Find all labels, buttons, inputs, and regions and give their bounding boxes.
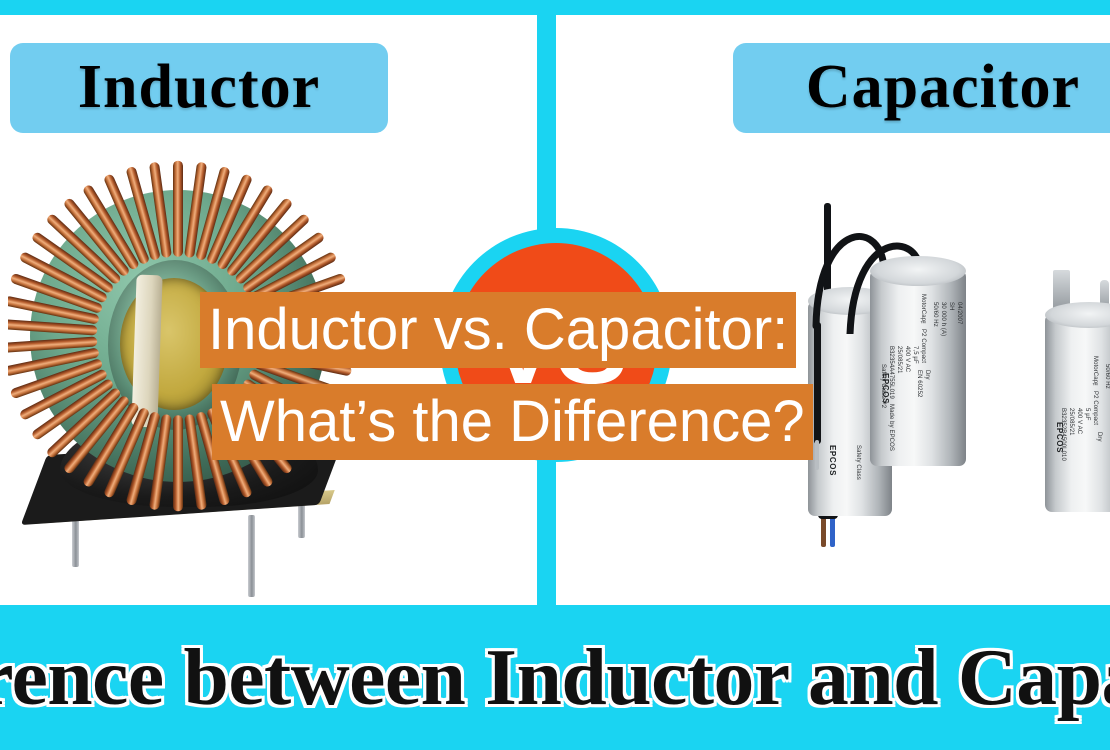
capacitor-capacitance-text: 7,5 µF	[911, 346, 918, 364]
capacitor-made-text: Made by EPCOS	[887, 404, 894, 451]
lead-wire-black	[814, 322, 821, 444]
capacitor-safety-text: Safety Class P2	[879, 364, 886, 408]
capacitor-life-text: 30 000 h (A)	[939, 302, 946, 336]
capacitor-series-text: MotorCap™ P2 Compact	[919, 294, 926, 363]
capacitor-part-text: B32352B4500L010	[1059, 408, 1066, 461]
panel-label-capacitor: Capacitor	[733, 43, 1110, 133]
capacitor-code-text: 25/085/21	[895, 346, 902, 374]
lead-wire-tip	[815, 440, 819, 470]
capacitor-capacitance-text: 5 µF	[1083, 408, 1090, 421]
capacitor-standard-text: EN 60252	[915, 370, 922, 398]
bottom-banner-title: Difference between Inductor and Capacito…	[0, 605, 1110, 750]
capacitor-frequency-text: 50/60 Hz	[931, 302, 938, 327]
capacitor-voltage-text: 400 V AC	[1075, 408, 1082, 434]
capacitor-dry-text: Dry	[923, 370, 930, 380]
capacitor-frequency-text: 50/60 Hz	[1103, 364, 1110, 389]
capacitor-voltage-text: 400 V AC	[903, 346, 910, 372]
capacitor-date-text: 04/2007	[955, 302, 962, 324]
headline-line-2: What’s the Difference?	[212, 384, 813, 460]
capacitor-class-text: SH	[947, 302, 954, 311]
capacitor-series-text: MotorCap™ P2 Compact	[1091, 356, 1098, 425]
capacitor-brand-text: EPCOS	[828, 445, 837, 476]
capacitor-code-text: 25/085/21	[1067, 408, 1074, 436]
capacitor-part-text: B32354A4755L019	[887, 346, 894, 399]
headline-line-1: Inductor vs. Capacitor:	[200, 292, 796, 368]
capacitor-dry-text: Dry	[1095, 432, 1102, 442]
thumbnail-canvas: Inductor EPCOS Safety Class EPCOS MotorC	[0, 0, 1110, 750]
capacitor-top-cap	[870, 256, 966, 286]
capacitor-spec-text: Safety Class	[854, 445, 861, 480]
panel-label-inductor: Inductor	[10, 43, 388, 133]
